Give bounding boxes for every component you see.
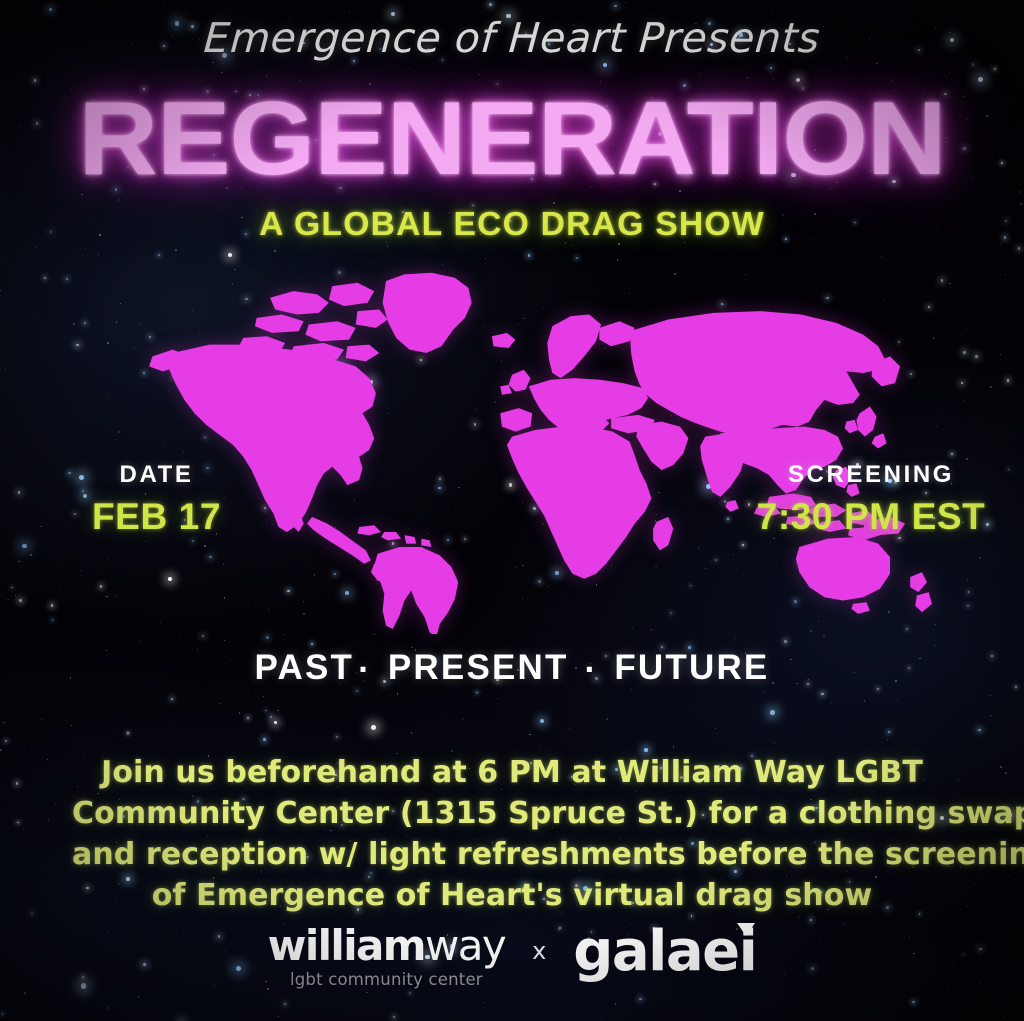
william-way-tagline: lgbt community center: [290, 972, 483, 989]
screening-value: 7:30 PM EST: [726, 496, 1016, 538]
screening-label: SCREENING: [726, 461, 1016, 489]
event-subtitle: A GLOBAL ECO DRAG SHOW: [0, 205, 1024, 243]
description-line-1: Join us beforehand at 6 PM at William Wa…: [72, 752, 952, 793]
tagline-separator-1: ·: [358, 650, 372, 690]
description-line-4: of Emergence of Heart's virtual drag sho…: [72, 875, 952, 916]
description-line-3: and reception w/ light refreshments befo…: [72, 834, 952, 875]
date-label: DATE: [34, 461, 279, 489]
event-poster: Emergence of Heart Presents REGENERATION…: [0, 0, 1024, 1021]
tagline-present: PRESENT: [388, 648, 569, 687]
tagline-future: FUTURE: [614, 648, 769, 687]
tagline-past: PAST: [255, 648, 355, 687]
galaei-wordmark: galaei: [573, 919, 756, 984]
william-way-bold-text: william: [268, 921, 425, 970]
date-block: DATE FEB 17: [34, 461, 279, 538]
william-way-light-text: way: [425, 921, 505, 970]
screening-block: SCREENING 7:30 PM EST: [726, 461, 1016, 538]
galaei-logo: galaei: [573, 924, 756, 980]
william-way-logo: williamway lgbt community center: [268, 925, 505, 989]
page-title: REGENERATION: [0, 87, 1024, 191]
tagline-separator-2: ·: [585, 650, 599, 690]
galaei-accent-icon: [737, 923, 755, 936]
world-map: [92, 266, 932, 634]
description-line-2: Community Center (1315 Spruce St.) for a…: [72, 793, 952, 834]
tagline: PAST· PRESENT · FUTURE: [0, 648, 1024, 690]
partner-logos: williamway lgbt community center x galae…: [0, 925, 1024, 989]
presenter-line: Emergence of Heart Presents: [0, 14, 1024, 62]
william-way-wordmark: williamway: [268, 925, 505, 967]
logo-separator-x: x: [532, 937, 546, 965]
event-description: Join us beforehand at 6 PM at William Wa…: [72, 752, 952, 916]
date-value: FEB 17: [34, 496, 279, 538]
